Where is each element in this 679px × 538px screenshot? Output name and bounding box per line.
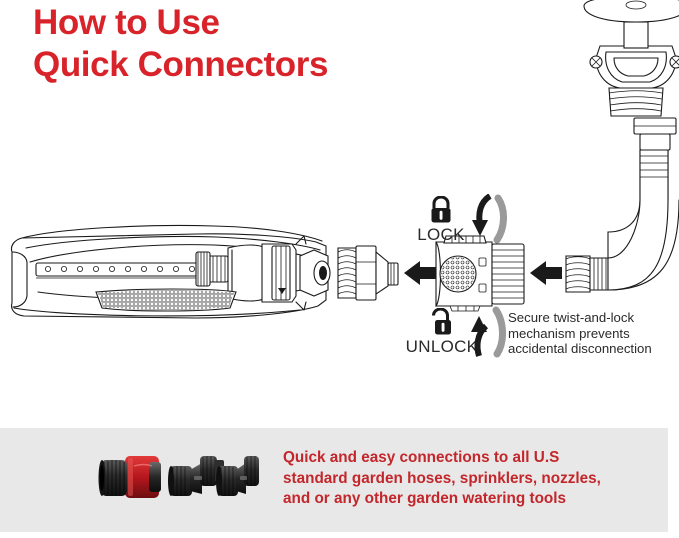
feature-description: Quick and easy connections to all U.S st… — [283, 448, 675, 510]
assembly-arrow-left-2 — [530, 261, 562, 285]
feature-line-1: Quick and easy connections to all U.S — [283, 448, 675, 469]
infographic-canvas: How to Use Quick Connectors .ln{fill:non… — [0, 0, 679, 538]
connector-product-photos — [92, 444, 260, 512]
secure-mechanism-note: Secure twist-and-lock mechanism prevents… — [508, 310, 679, 357]
male-hose-adapter-illustration — [338, 246, 398, 300]
lock-indicator-group: LOCK — [404, 196, 478, 244]
feature-line-3: and or any other garden watering tools — [283, 489, 675, 510]
padlock-open-icon — [429, 308, 455, 336]
curved-arrow-down-icon — [468, 194, 508, 244]
curved-arrow-up-icon — [466, 306, 506, 358]
assembly-arrow-left-1 — [404, 261, 436, 285]
lock-label: LOCK — [404, 225, 478, 244]
how-to-use-diagram: .ln{fill:none;stroke:#1a1a1a;stroke-widt… — [0, 0, 679, 420]
product-connector-red-black — [99, 456, 162, 498]
outdoor-faucet-spigot-illustration — [584, 0, 679, 150]
quick-connector-coupling-illustration — [436, 236, 524, 311]
feature-line-2: standard garden hoses, sprinklers, nozzl… — [283, 469, 675, 490]
oscillating-sprinkler-illustration — [11, 226, 330, 319]
garden-hose-illustration — [566, 150, 679, 292]
product-connector-black-1 — [168, 456, 224, 496]
padlock-closed-icon — [428, 196, 454, 224]
